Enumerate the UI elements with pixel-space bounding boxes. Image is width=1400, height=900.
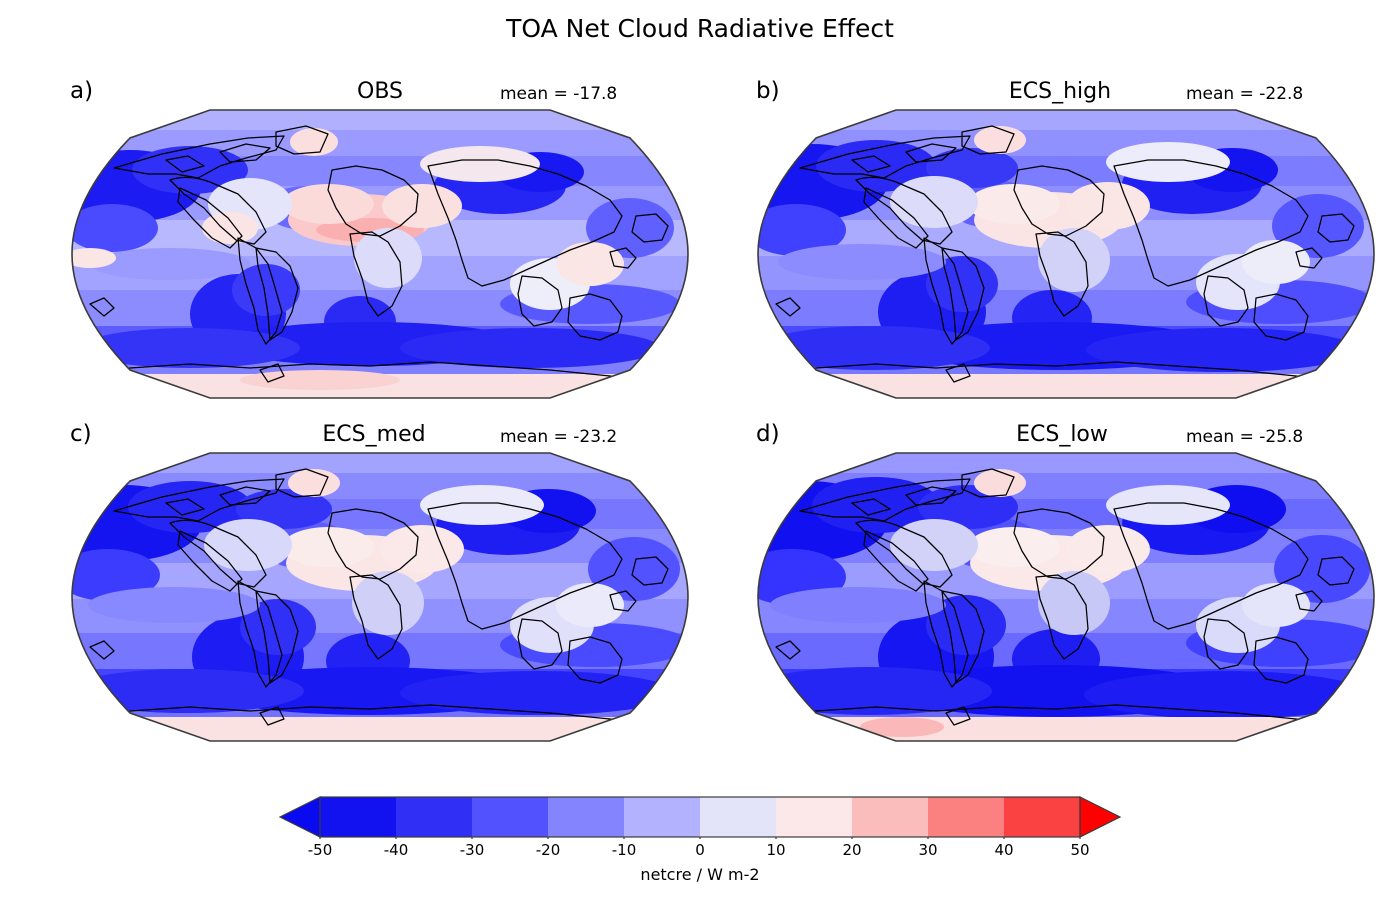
panel-title-c: ECS_med [224, 422, 524, 447]
colorbar-tick-label: 20 [842, 841, 861, 859]
colorbar-segments [280, 797, 1120, 837]
colorbar[interactable]: -50 -40 -30 -20 -10 0 10 20 30 40 50 net… [270, 793, 1130, 878]
panel-title-d: ECS_low [912, 422, 1212, 447]
panel-mean-b: mean = -22.8 [1186, 84, 1386, 104]
map-plot-ecs-high[interactable] [756, 108, 1376, 400]
map-svg-ecs-low [756, 451, 1376, 743]
panel-mean-d: mean = -25.8 [1186, 427, 1386, 447]
map-svg-ecs-med [70, 451, 690, 743]
colorbar-tick-label: -20 [536, 841, 561, 859]
panel-mean-a: mean = -17.8 [500, 84, 700, 104]
colorbar-tick-label: 10 [766, 841, 785, 859]
colorbar-tick-label: -50 [308, 841, 333, 859]
map-svg-ecs-high [756, 108, 1376, 400]
panel-letter-c: c) [70, 421, 92, 447]
panel-mean-c: mean = -23.2 [500, 427, 700, 447]
colorbar-axis-label: netcre / W m-2 [270, 865, 1130, 884]
figure-title: TOA Net Cloud Radiative Effect [0, 14, 1400, 43]
map-plot-ecs-med[interactable] [70, 451, 690, 743]
panel-title-a: OBS [230, 79, 530, 104]
colorbar-tick-label: 40 [994, 841, 1013, 859]
colorbar-tick-label: 0 [695, 841, 705, 859]
figure-canvas: TOA Net Cloud Radiative Effect a) OBS me… [0, 0, 1400, 900]
map-plot-obs[interactable] [70, 108, 690, 400]
colorbar-swatches [270, 793, 1130, 839]
panel-title-b: ECS_high [910, 79, 1210, 104]
panel-letter-d: d) [756, 421, 780, 447]
panel-letter-b: b) [756, 78, 780, 104]
colorbar-tick-label: 30 [918, 841, 937, 859]
colorbar-tick-label: 50 [1070, 841, 1089, 859]
map-svg-obs [70, 108, 690, 400]
colorbar-tick-label: -30 [460, 841, 485, 859]
panel-letter-a: a) [70, 78, 93, 104]
map-plot-ecs-low[interactable] [756, 451, 1376, 743]
colorbar-tick-label: -40 [384, 841, 409, 859]
colorbar-tick-label: -10 [612, 841, 637, 859]
